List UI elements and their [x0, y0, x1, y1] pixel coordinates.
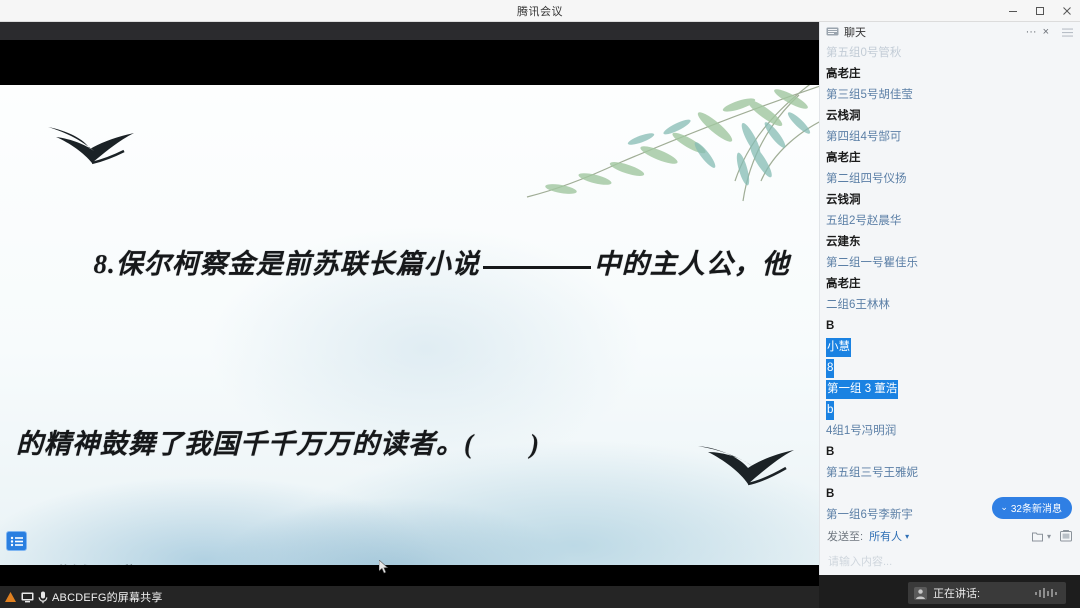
window-titlebar: 腾讯会议	[0, 0, 1080, 22]
chat-panel: 聊天 ··· × 第五组0号管秋高老庄第三组5号胡佳莹云栈洞第四组4号郜可高老庄…	[819, 22, 1080, 575]
chat-message-text: 第一组6号李新宇	[826, 509, 913, 521]
chat-message[interactable]: 第二组一号瞿佳乐	[826, 252, 1080, 273]
speaker-avatar-icon	[914, 587, 927, 600]
shared-screen-area[interactable]: 8.保尔柯察金是前苏联长篇小说中的主人公，他 的精神鼓舞了我国千千万万的读者。(…	[0, 22, 819, 608]
screenshot-button[interactable]	[1060, 530, 1072, 542]
chat-panel-title: 聊天	[844, 24, 1023, 40]
chat-message-text: 4组1号冯明润	[826, 425, 896, 437]
list-menu-icon	[10, 536, 24, 547]
tencent-meeting-window: 腾讯会议	[0, 0, 1080, 608]
new-messages-badge[interactable]: ⌄ 32条新消息	[992, 497, 1072, 519]
question-number: 8.	[94, 249, 116, 279]
chat-message[interactable]: 高老庄	[826, 147, 1080, 168]
file-send-icon	[1032, 531, 1045, 542]
question-part2: 中的主人公，他	[594, 249, 790, 279]
chat-message[interactable]: 8	[826, 357, 1080, 378]
fill-in-blank	[483, 266, 591, 269]
chat-message-text: 五组2号赵晨华	[826, 215, 901, 227]
screenshot-icon	[1060, 530, 1072, 542]
chat-menu-button[interactable]	[1058, 23, 1076, 41]
chat-message[interactable]: 云栈洞	[826, 105, 1080, 126]
option-a: A《简爱》	[16, 557, 806, 565]
chat-send-to-row: 发送至: 所有人 ▾ ▾	[820, 525, 1080, 547]
chat-message[interactable]: B	[826, 315, 1080, 336]
chat-message-text: 云栈洞	[826, 110, 861, 122]
slide-question-text: 8.保尔柯察金是前苏联长篇小说中的主人公，他 的精神鼓舞了我国千千万万的读者。(…	[16, 107, 806, 565]
chat-message[interactable]: 云钱洞	[826, 189, 1080, 210]
send-to-label: 发送至:	[827, 528, 863, 544]
chat-message[interactable]: 高老庄	[826, 273, 1080, 294]
chat-message[interactable]: 小慧	[826, 336, 1080, 357]
chat-messages-container: 第五组0号管秋高老庄第三组5号胡佳莹云栈洞第四组4号郜可高老庄第二组四号仪扬云钱…	[826, 42, 1080, 525]
window-controls	[999, 0, 1080, 22]
close-button[interactable]	[1053, 0, 1080, 22]
chat-message-text: 云建东	[826, 236, 861, 248]
maximize-button[interactable]	[1026, 0, 1053, 22]
send-to-value[interactable]: 所有人	[869, 528, 902, 544]
question-part1: 保尔柯察金是前苏联长篇小说	[116, 249, 480, 279]
chat-close-button[interactable]: ×	[1040, 27, 1052, 38]
chat-message[interactable]: 云建东	[826, 231, 1080, 252]
chat-compose-area[interactable]: 请输入内容...	[820, 547, 1080, 575]
chat-message-text: 第五组三号王雅妮	[826, 467, 918, 479]
minimize-button[interactable]	[999, 0, 1026, 22]
chat-bubble-icon	[826, 27, 839, 37]
chat-message-text: 小慧	[826, 338, 851, 357]
chat-message-text: 8	[826, 359, 834, 378]
mouse-cursor-icon	[379, 560, 389, 574]
speaking-label: 正在讲话:	[933, 585, 980, 601]
chat-message[interactable]: 第五组三号王雅妮	[826, 462, 1080, 483]
chat-message[interactable]: b	[826, 399, 1080, 420]
chat-message-text: B	[826, 488, 834, 500]
chat-message[interactable]: B	[826, 441, 1080, 462]
chat-more-button[interactable]: ···	[1023, 27, 1040, 38]
share-top-strip	[0, 22, 819, 40]
app-icon	[4, 591, 17, 604]
chat-message[interactable]: 第五组0号管秋	[826, 42, 1080, 63]
chevron-down-icon[interactable]: ▾	[905, 532, 909, 541]
chat-message-text: 第五组0号管秋	[826, 47, 901, 59]
chat-message-text: B	[826, 320, 834, 332]
monitor-icon	[21, 592, 34, 603]
chat-message-text: 第二组一号瞿佳乐	[826, 257, 918, 269]
file-send-button[interactable]: ▾	[1032, 531, 1051, 542]
chat-input-placeholder: 请输入内容...	[828, 556, 892, 568]
screen-share-taskbar: ABCDEFG的屏幕共享	[0, 586, 819, 608]
chat-message[interactable]: 第三组5号胡佳莹	[826, 84, 1080, 105]
hamburger-icon	[1062, 28, 1073, 37]
chat-message-text: b	[826, 401, 834, 420]
chat-message[interactable]: 二组6王林林	[826, 294, 1080, 315]
list-menu-button[interactable]	[6, 531, 27, 551]
share-letterbox-top	[0, 40, 819, 85]
shared-slide: 8.保尔柯察金是前苏联长篇小说中的主人公，他 的精神鼓舞了我国千千万万的读者。(…	[0, 85, 819, 565]
microphone-icon	[38, 591, 48, 604]
chat-message[interactable]: 高老庄	[826, 63, 1080, 84]
chat-message-text: 云钱洞	[826, 194, 861, 206]
share-status-label: ABCDEFG的屏幕共享	[52, 589, 163, 605]
chat-message-text: 高老庄	[826, 278, 861, 290]
chevron-down-icon: ▾	[1047, 532, 1051, 541]
chat-message-text: 二组6王林林	[826, 299, 890, 311]
chat-message[interactable]: 4组1号冯明润	[826, 420, 1080, 441]
chat-message-text: 第四组4号郜可	[826, 131, 901, 143]
audio-wave-icon	[1034, 587, 1060, 599]
chat-message[interactable]: 第一组 3 董浩	[826, 378, 1080, 399]
speaking-indicator: 正在讲话:	[908, 582, 1066, 604]
chat-message-text: 第二组四号仪扬	[826, 173, 907, 185]
chat-panel-header: 聊天 ··· ×	[820, 22, 1080, 42]
new-messages-label: 32条新消息	[1011, 500, 1062, 515]
window-title: 腾讯会议	[517, 3, 563, 19]
chat-message-text: 高老庄	[826, 152, 861, 164]
chat-message-text: 高老庄	[826, 68, 861, 80]
chat-message-text: 第一组 3 董浩	[826, 380, 898, 399]
chat-message[interactable]: 五组2号赵晨华	[826, 210, 1080, 231]
chat-message[interactable]: 第二组四号仪扬	[826, 168, 1080, 189]
chat-message-list[interactable]: 第五组0号管秋高老庄第三组5号胡佳莹云栈洞第四组4号郜可高老庄第二组四号仪扬云钱…	[820, 42, 1080, 525]
chat-message-text: B	[826, 446, 834, 458]
question-line2: 的精神鼓舞了我国千千万万的读者。( )	[16, 422, 806, 467]
chevron-down-icon: ⌄	[1000, 502, 1008, 513]
chat-message-text: 第三组5号胡佳莹	[826, 89, 913, 101]
chat-message[interactable]: 第四组4号郜可	[826, 126, 1080, 147]
